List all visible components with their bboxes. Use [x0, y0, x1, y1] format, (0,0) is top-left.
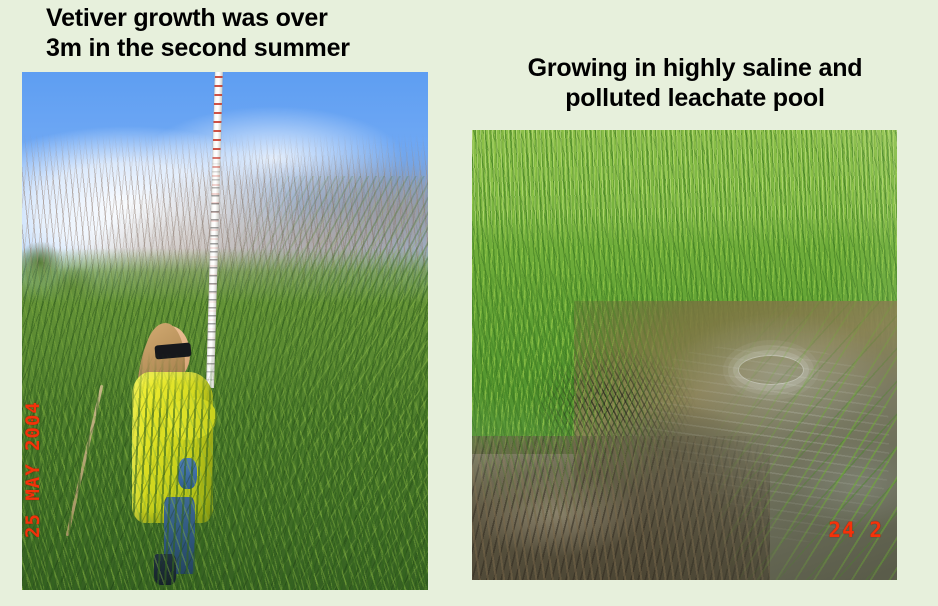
slide-canvas: Vetiver growth was over 3m in the second…	[0, 0, 938, 606]
grass-canopy-highlights	[472, 130, 897, 247]
foreground-grass	[22, 352, 428, 590]
left-panel-title: Vetiver growth was over 3m in the second…	[46, 4, 350, 63]
left-photo-vetiver-growth: 25 MAY 2004	[22, 72, 428, 590]
vetiver-clumps-waters-edge	[481, 274, 702, 526]
right-photo-date-stamp: 24 2	[828, 518, 883, 542]
left-photo-date-stamp: 25 MAY 2004	[22, 401, 44, 538]
right-panel-title: Growing in highly saline and polluted le…	[500, 54, 890, 113]
right-photo-leachate-pool: 24 2	[472, 130, 897, 580]
